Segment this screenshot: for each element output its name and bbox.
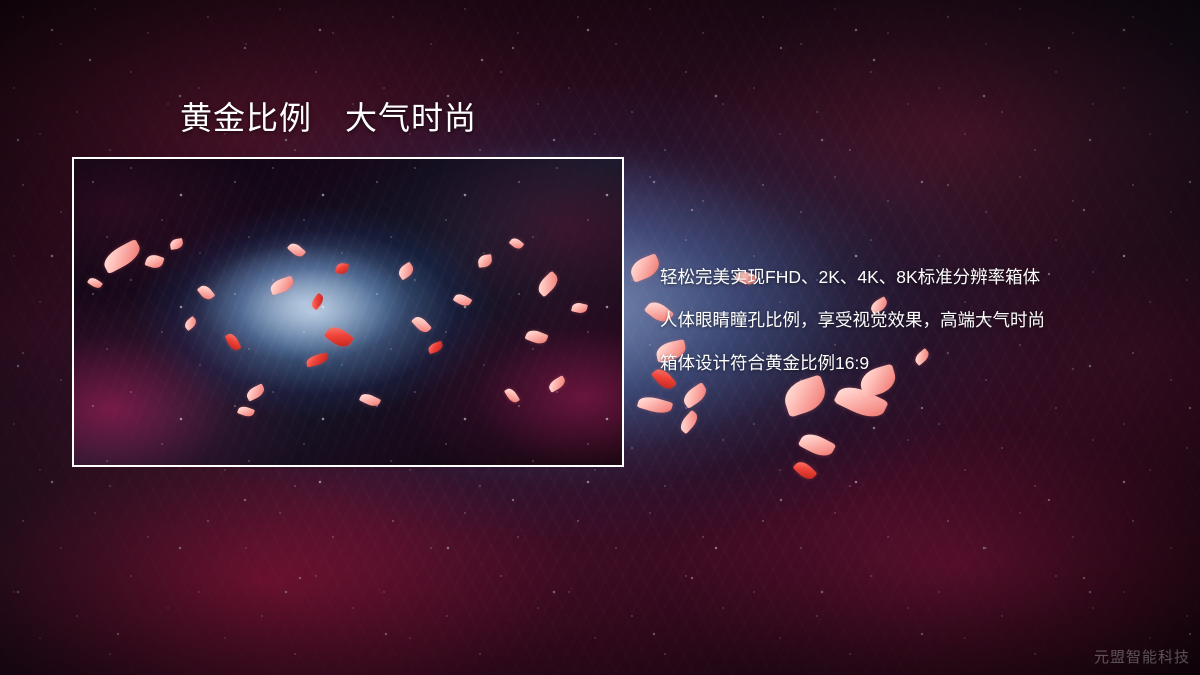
body-line-1: 轻松完美实现FHD、2K、4K、8K标准分辨率箱体 (660, 256, 1160, 299)
petal-shape (637, 394, 674, 417)
petal-shape (798, 429, 836, 461)
picture-frame (72, 157, 624, 467)
petal-shape (680, 382, 710, 409)
picture-image (74, 159, 622, 465)
picture-starfield (74, 159, 622, 465)
watermark-text: 元盟智能科技 (1094, 646, 1190, 667)
body-text-block: 轻松完美实现FHD、2K、4K、8K标准分辨率箱体 人体眼睛瞳孔比例，享受视觉效… (660, 256, 1160, 385)
body-line-3: 箱体设计符合黄金比例16:9 (660, 342, 1160, 385)
petal-shape (833, 380, 888, 423)
slide-canvas: 黄金比例 大气时尚 轻松完美实现FHD、2K、4K、8K标准分辨率箱体 人体眼睛… (0, 0, 1200, 675)
body-line-2: 人体眼睛瞳孔比例，享受视觉效果，高端大气时尚 (660, 299, 1160, 342)
petal-shape (627, 253, 662, 283)
petal-shape (793, 458, 818, 483)
page-title: 黄金比例 大气时尚 (180, 100, 477, 137)
petal-shape (677, 410, 701, 434)
